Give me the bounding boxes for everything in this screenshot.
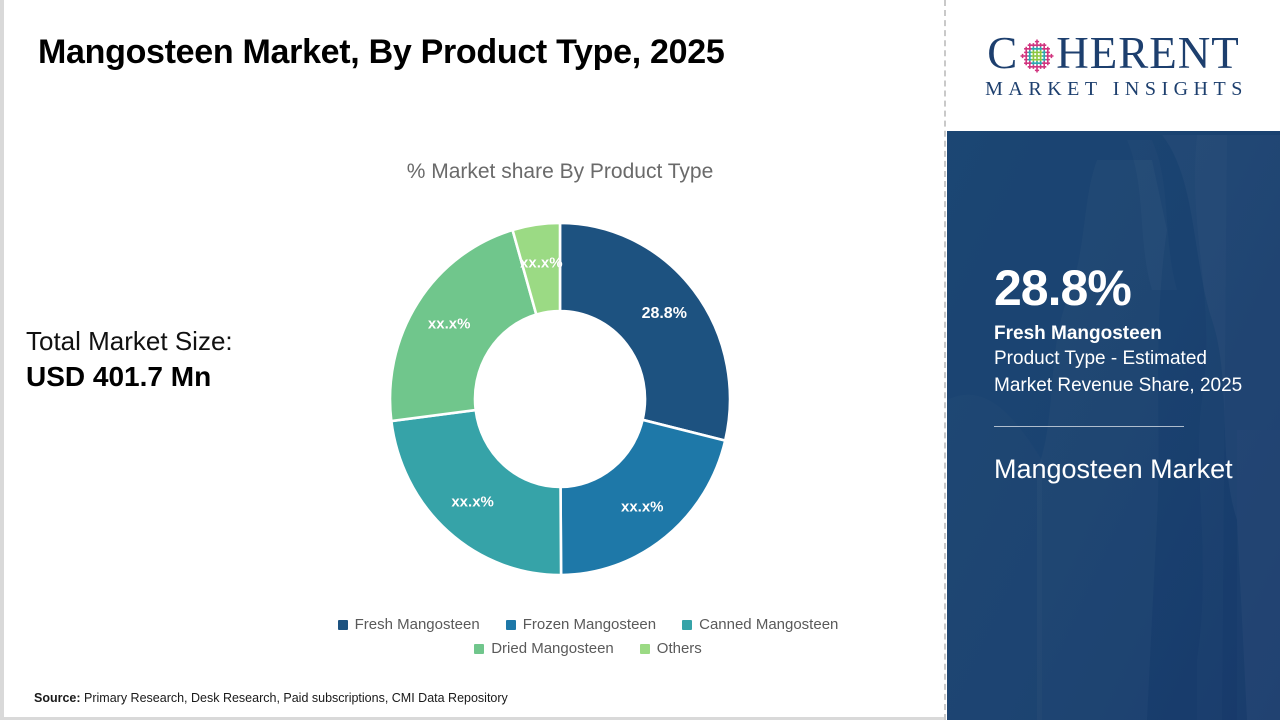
frame-left-border <box>0 0 4 720</box>
legend-swatch-icon <box>640 644 650 654</box>
panel-divider <box>944 0 946 720</box>
source-note: Source: Primary Research, Desk Research,… <box>34 691 508 705</box>
legend-row: Dried Mangosteen Others <box>258 640 918 657</box>
donut-slice-label: 28.8% <box>642 305 687 323</box>
legend-swatch-icon <box>338 620 348 630</box>
total-market-size-label: Total Market Size: <box>26 324 326 359</box>
panel-divider-rule <box>994 426 1184 427</box>
logo-word-part-2: HERENT <box>1056 31 1239 76</box>
source-text: Primary Research, Desk Research, Paid su… <box>84 691 508 705</box>
total-market-size-value: USD 401.7 Mn <box>26 359 326 395</box>
chart-subtitle: % Market share By Product Type <box>240 160 880 184</box>
legend-label: Canned Mangosteen <box>699 616 838 633</box>
right-panel: C HERENT MARKET INSIGHTS 28.8% Fresh Man… <box>947 0 1280 720</box>
legend-label: Dried Mangosteen <box>491 640 614 657</box>
legend-swatch-icon <box>474 644 484 654</box>
legend-item-dried-mangosteen[interactable]: Dried Mangosteen <box>474 640 614 657</box>
chart-legend: Fresh Mangosteen Frozen Mangosteen Canne… <box>258 616 918 664</box>
legend-label: Others <box>657 640 702 657</box>
logo-wordmark: C HERENT <box>987 31 1240 76</box>
panel-description: Product Type - Estimated Market Revenue … <box>994 346 1252 400</box>
donut-chart: 28.8%xx.x%xx.x%xx.x%xx.x% <box>390 223 730 575</box>
legend-item-frozen-mangosteen[interactable]: Frozen Mangosteen <box>506 616 656 633</box>
logo-word-part-1: C <box>987 31 1018 76</box>
donut-slice-label: xx.x% <box>621 498 664 515</box>
dotted-globe-icon <box>1019 37 1055 73</box>
source-label: Source: <box>34 691 81 705</box>
panel-segment-name: Fresh Mangosteen <box>994 321 1252 347</box>
donut-slice-label: xx.x% <box>428 315 471 332</box>
donut-slice-label: xx.x% <box>451 494 494 511</box>
infographic-canvas: Mangosteen Market, By Product Type, 2025… <box>0 0 1280 720</box>
panel-market-name: Mangosteen Market <box>994 451 1252 489</box>
panel-stat-value: 28.8% <box>994 262 1252 315</box>
legend-item-fresh-mangosteen[interactable]: Fresh Mangosteen <box>338 616 480 633</box>
frame-top-border <box>0 0 944 3</box>
legend-label: Fresh Mangosteen <box>355 616 480 633</box>
legend-item-canned-mangosteen[interactable]: Canned Mangosteen <box>682 616 838 633</box>
donut-slice-label: xx.x% <box>520 255 563 272</box>
legend-label: Frozen Mangosteen <box>523 616 656 633</box>
legend-swatch-icon <box>682 620 692 630</box>
legend-swatch-icon <box>506 620 516 630</box>
legend-row: Fresh Mangosteen Frozen Mangosteen Canne… <box>258 616 918 633</box>
total-market-size-block: Total Market Size: USD 401.7 Mn <box>26 324 326 395</box>
logo: C HERENT MARKET INSIGHTS <box>947 0 1280 131</box>
legend-item-others[interactable]: Others <box>640 640 702 657</box>
logo-tagline: MARKET INSIGHTS <box>979 78 1248 101</box>
panel-content: 28.8% Fresh Mangosteen Product Type - Es… <box>994 262 1252 489</box>
page-title: Mangosteen Market, By Product Type, 2025 <box>38 33 898 72</box>
donut-center-hole <box>475 311 645 487</box>
